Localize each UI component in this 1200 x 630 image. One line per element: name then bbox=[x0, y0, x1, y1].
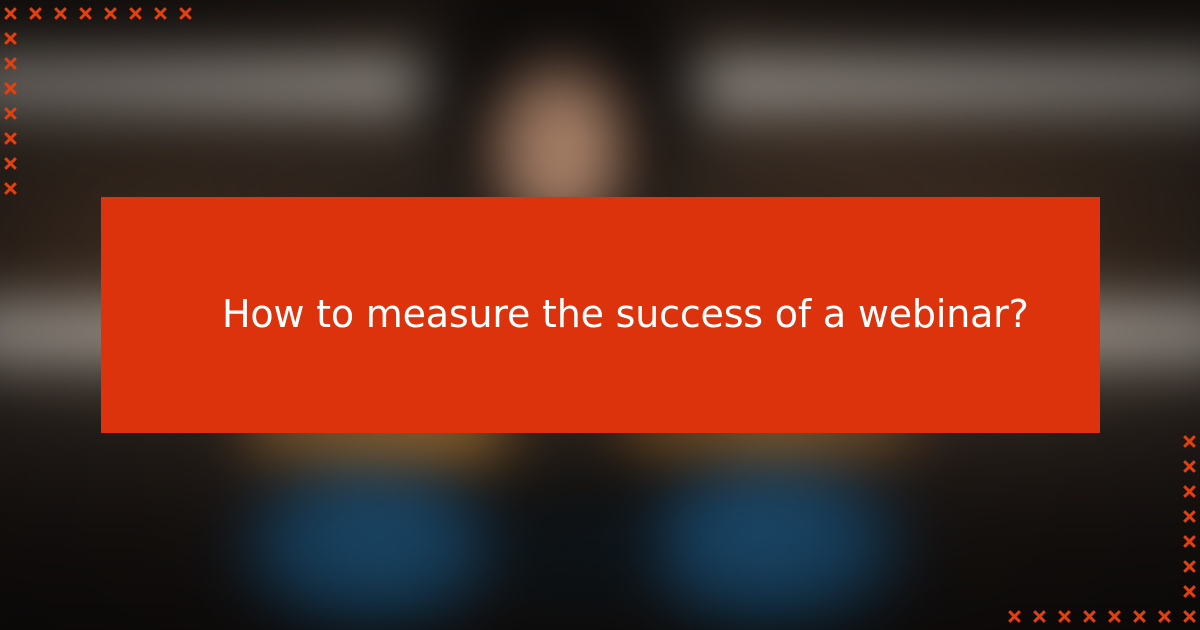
x-mark-icon bbox=[3, 106, 18, 121]
x-mark-icon bbox=[1032, 609, 1047, 624]
x-mark-icon bbox=[3, 181, 18, 196]
x-mark-icon bbox=[1182, 609, 1197, 624]
x-mark-icon bbox=[28, 6, 43, 21]
x-mark-icon bbox=[3, 156, 18, 171]
x-mark-icon bbox=[3, 81, 18, 96]
x-mark-icon bbox=[53, 6, 68, 21]
x-mark-icon bbox=[3, 56, 18, 71]
x-mark-icon bbox=[1107, 609, 1122, 624]
x-mark-icon bbox=[1157, 609, 1172, 624]
x-mark-icon bbox=[178, 6, 193, 21]
x-mark-icon bbox=[1182, 459, 1197, 474]
headline-banner: How to measure the success of a webinar? bbox=[101, 197, 1100, 433]
x-mark-icon bbox=[1182, 484, 1197, 499]
x-mark-icon bbox=[1132, 609, 1147, 624]
x-mark-icon bbox=[3, 131, 18, 146]
x-mark-icon bbox=[1007, 609, 1022, 624]
x-mark-icon bbox=[1182, 434, 1197, 449]
x-mark-icon bbox=[1182, 559, 1197, 574]
x-mark-icon bbox=[1057, 609, 1072, 624]
x-mark-icon bbox=[3, 31, 18, 46]
x-mark-icon bbox=[78, 6, 93, 21]
x-mark-icon bbox=[1182, 584, 1197, 599]
x-mark-icon bbox=[3, 6, 18, 21]
x-mark-icon bbox=[1182, 534, 1197, 549]
share-card-canvas: How to measure the success of a webinar? bbox=[0, 0, 1200, 630]
x-mark-icon bbox=[1182, 509, 1197, 524]
x-mark-icon bbox=[103, 6, 118, 21]
x-mark-icon bbox=[128, 6, 143, 21]
x-mark-icon bbox=[1082, 609, 1097, 624]
x-mark-icon bbox=[153, 6, 168, 21]
headline-title: How to measure the success of a webinar? bbox=[101, 291, 1069, 339]
